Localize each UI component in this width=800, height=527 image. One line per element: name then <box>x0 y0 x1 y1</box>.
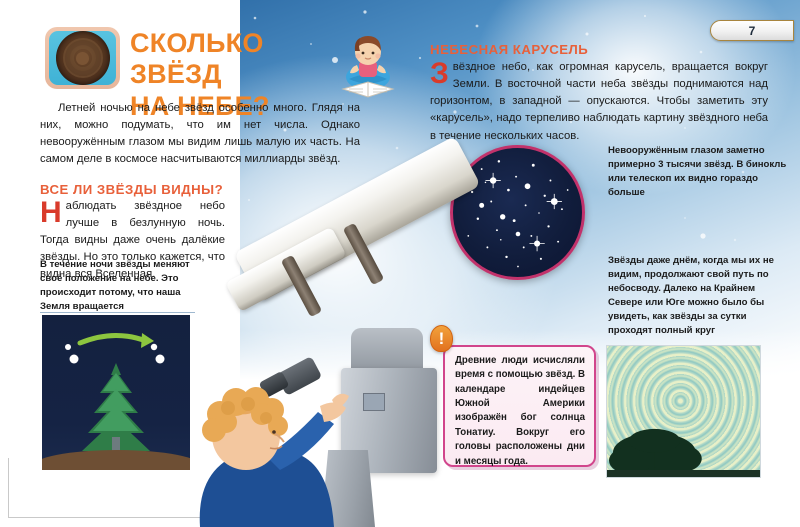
book-page: 7 СКОЛЬКО ЗВЁЗД НА НЕБЕ? Летней ночью на… <box>0 0 800 527</box>
right-column: НЕБЕСНАЯ КАРУСЕЛЬ Звёздное небо, как огр… <box>430 42 768 145</box>
side-note-naked-eye: Невооружённым глазом заметно примерно 3 … <box>608 144 788 200</box>
dropcap-right: З <box>430 59 453 87</box>
celestial-carousel-paragraph: Звёздное небо, как огромная карусель, вр… <box>430 59 768 145</box>
star-trails-horizon <box>607 470 760 477</box>
fir-tree-scene-icon <box>42 315 190 470</box>
aztec-calendar-stone-icon <box>56 31 110 85</box>
dropcap-left: Н <box>40 198 66 226</box>
side-note-left: В течение ночи звёзды меняют своё положе… <box>40 258 200 314</box>
celestial-carousel-text: вёздное небо, как огромная карусель, вра… <box>430 61 768 142</box>
fir-tree-night-sky-illustration <box>42 315 190 470</box>
page-title-line1: СКОЛЬКО ЗВЁЗД <box>130 28 360 91</box>
page-edge-left <box>8 458 9 518</box>
side-note-daytime-stars: Звёзды даже днём, когда мы их не видим, … <box>608 254 788 337</box>
boy-looking-through-telescope-illustration <box>170 370 405 527</box>
section-heading-celestial-carousel: НЕБЕСНАЯ КАРУСЕЛЬ <box>430 42 768 57</box>
star-trails-tree-icon <box>607 346 760 477</box>
tree-ground <box>42 450 190 470</box>
star-trails-photo <box>606 345 761 478</box>
child-reading-book-illustration <box>335 27 401 105</box>
title-badge <box>45 27 120 89</box>
exclamation-mark-icon: ! <box>430 325 453 352</box>
page-number: 7 <box>710 20 794 41</box>
callout-text: Древние люди исчисляли время с помощью з… <box>445 347 594 473</box>
callout-box: Древние люди исчисляли время с помощью з… <box>443 345 596 467</box>
side-note-divider <box>40 312 195 313</box>
